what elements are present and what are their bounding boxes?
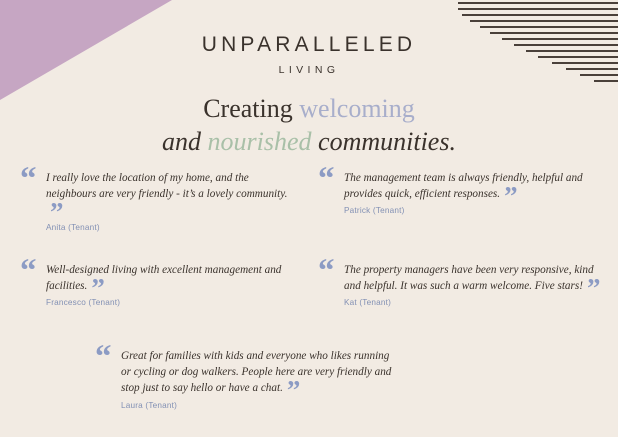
headline-line-1: Creating welcoming [0, 92, 618, 125]
stripe-line [458, 8, 618, 10]
stripe-line [470, 20, 618, 22]
testimonial-body: “Well-designed living with excellent man… [20, 262, 288, 294]
testimonial-body: “The management team is always friendly,… [318, 170, 600, 202]
quote-open-icon: “ [318, 255, 334, 288]
quote-open-icon: “ [318, 163, 334, 196]
testimonial-text: The management team is always friendly, … [344, 172, 583, 200]
stripe-line [458, 2, 618, 4]
brand-name: UNPARALLELED [0, 33, 618, 57]
headline-text-pre: and [162, 127, 208, 156]
headline-accent-welcoming: welcoming [299, 94, 415, 123]
stripe-line [480, 26, 618, 28]
quote-open-icon: “ [20, 255, 36, 288]
brand-logo: UNPARALLELED LIVING [0, 33, 618, 76]
testimonial-author: Laura (Tenant) [95, 401, 395, 410]
testimonial-text: Well-designed living with excellent mana… [46, 264, 281, 292]
headline-accent-nourished: nourished [208, 127, 312, 156]
headline-text-plain: Creating [203, 94, 299, 123]
quote-open-icon: “ [95, 341, 111, 374]
testimonial-body: “The property managers have been very re… [318, 262, 604, 294]
headline-line-2: and nourished communities. [0, 125, 618, 158]
testimonial-card: “Great for families with kids and everyo… [95, 348, 395, 410]
stripe-line [594, 80, 618, 82]
testimonial-author: Kat (Tenant) [318, 298, 604, 307]
testimonial-card: “I really love the location of my home, … [20, 170, 292, 232]
brand-tagline: LIVING [0, 64, 618, 76]
testimonial-text: I really love the location of my home, a… [46, 172, 287, 200]
testimonial-author: Francesco (Tenant) [20, 298, 288, 307]
testimonial-author: Patrick (Tenant) [318, 206, 600, 215]
testimonial-text: Great for families with kids and everyon… [121, 350, 391, 394]
quote-open-icon: “ [20, 163, 36, 196]
testimonial-card: “Well-designed living with excellent man… [20, 262, 288, 307]
slide-canvas: UNPARALLELED LIVING Creating welcoming a… [0, 0, 618, 437]
testimonial-card: “The management team is always friendly,… [318, 170, 600, 215]
page-title: Creating welcoming and nourished communi… [0, 92, 618, 159]
testimonial-text: The property managers have been very res… [344, 264, 594, 292]
stripe-line [462, 14, 618, 16]
headline-text-post: communities. [312, 127, 456, 156]
testimonial-card: “The property managers have been very re… [318, 262, 604, 307]
testimonial-body: “I really love the location of my home, … [20, 170, 292, 219]
testimonial-body: “Great for families with kids and everyo… [95, 348, 395, 397]
